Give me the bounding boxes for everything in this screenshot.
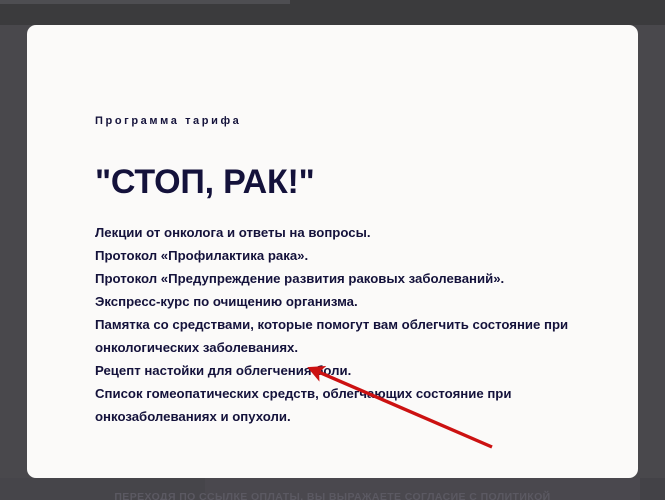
feature-list: Лекции от онколога и ответы на вопросы. … xyxy=(95,221,595,428)
list-item: Экспресс-курс по очищению организма. xyxy=(95,290,595,313)
list-item: Протокол «Предупреждение развития раковы… xyxy=(95,267,595,290)
card-inner-content: Программа тарифа "СТОП, РАК!" Лекции от … xyxy=(95,25,615,478)
tariff-content-card: Программа тарифа "СТОП, РАК!" Лекции от … xyxy=(27,25,638,478)
screenshot-viewport: Программа тарифа "СТОП, РАК!" Лекции от … xyxy=(0,0,665,500)
browser-chrome-strip xyxy=(0,0,665,25)
list-item: Памятка со средствами, которые помогут в… xyxy=(95,313,595,359)
page-title: "СТОП, РАК!" xyxy=(95,163,315,202)
list-item: Рецепт настойки для облегчения боли. xyxy=(95,359,595,382)
chrome-tab-highlight xyxy=(0,0,290,4)
program-eyebrow-label: Программа тарифа xyxy=(95,115,241,127)
list-item: Протокол «Профилактика рака». xyxy=(95,244,595,267)
payment-disclaimer-text: ПЕРЕХОДЯ ПО ССЫЛКЕ ОПЛАТЫ, ВЫ ВЫРАЖАЕТЕ … xyxy=(0,478,665,500)
list-item: Лекции от онколога и ответы на вопросы. xyxy=(95,221,595,244)
list-item: Список гомеопатических средств, облегчаю… xyxy=(95,382,595,428)
